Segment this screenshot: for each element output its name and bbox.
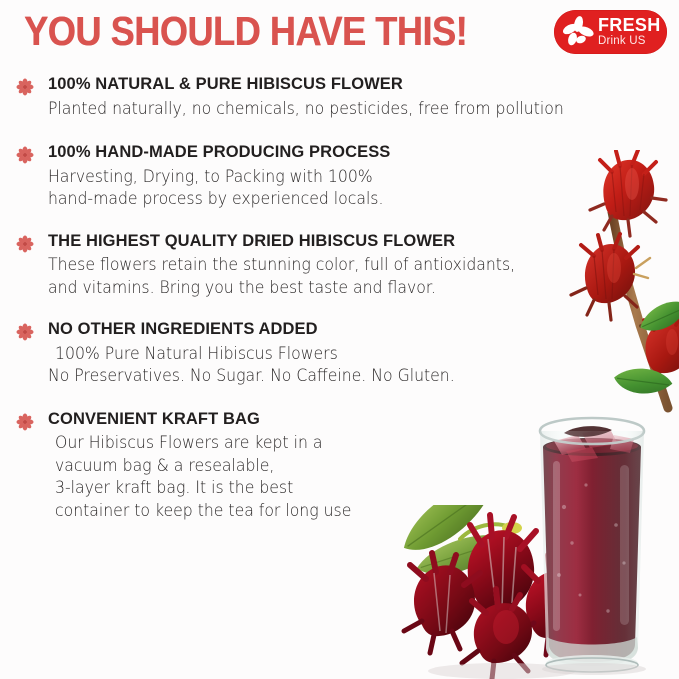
list-item-title: NO OTHER INGREDIENTS ADDED xyxy=(48,319,679,340)
flower-petals-icon xyxy=(557,12,597,52)
list-item-line: No Preservatives. No Sugar. No Caffeine.… xyxy=(48,365,647,387)
header: YOU SHOULD HAVE THIS! FRESH Drink US xyxy=(0,0,679,66)
list-item: THE HIGHEST QUALITY DRIED HIBISCUS FLOWE… xyxy=(0,231,679,300)
list-item-line: hand-made process by experienced locals. xyxy=(48,188,647,210)
flower-asterisk-icon xyxy=(16,78,34,96)
feature-list: 100% NATURAL & PURE HIBISCUS FLOWER Plan… xyxy=(0,66,679,522)
list-item-body: Our Hibiscus Flowers are kept in a vacuu… xyxy=(48,432,679,522)
list-item-line: container to keep the tea for long use xyxy=(55,500,648,522)
flower-asterisk-icon xyxy=(16,413,34,431)
brand-tagline: Drink US xyxy=(598,36,661,48)
list-item-title: 100% HAND-MADE PRODUCING PROCESS xyxy=(48,142,679,163)
list-item-line: 100% Pure Natural Hibiscus Flowers xyxy=(55,343,648,365)
flower-asterisk-icon xyxy=(16,323,34,341)
list-item-line: Harvesting, Drying, to Packing with 100% xyxy=(48,166,647,188)
product-feature-panel: YOU SHOULD HAVE THIS! FRESH Drink US xyxy=(0,0,679,679)
roselle-calyx-bunch-photo xyxy=(390,505,605,679)
list-item-title: 100% NATURAL & PURE HIBISCUS FLOWER xyxy=(48,74,679,95)
list-item-body: Planted naturally, no chemicals, no pest… xyxy=(48,98,679,120)
list-item-line: Planted naturally, no chemicals, no pest… xyxy=(48,98,647,120)
list-item-line: vacuum bag & a resealable, xyxy=(55,455,648,477)
list-item: 100% HAND-MADE PRODUCING PROCESS Harvest… xyxy=(0,142,679,211)
list-item-line: These flowers retain the stunning color,… xyxy=(48,254,647,276)
list-item-line: Our Hibiscus Flowers are kept in a xyxy=(55,432,648,454)
page-title: YOU SHOULD HAVE THIS! xyxy=(24,10,467,53)
list-item-title: THE HIGHEST QUALITY DRIED HIBISCUS FLOWE… xyxy=(48,231,679,252)
list-item-line: and vitamins. Bring you the best taste a… xyxy=(48,277,647,299)
list-item-body: 100% Pure Natural Hibiscus Flowers No Pr… xyxy=(48,343,679,388)
list-item-title: CONVENIENT KRAFT BAG xyxy=(48,409,679,430)
flower-asterisk-icon xyxy=(16,235,34,253)
list-item-body: These flowers retain the stunning color,… xyxy=(48,254,679,299)
list-item-line: 3-layer kraft bag. It is the best xyxy=(55,477,648,499)
list-item: 100% NATURAL & PURE HIBISCUS FLOWER Plan… xyxy=(0,74,679,120)
brand-name: FRESH xyxy=(598,16,661,34)
brand-logo[interactable]: FRESH Drink US xyxy=(554,10,667,54)
list-item-body: Harvesting, Drying, to Packing with 100%… xyxy=(48,166,679,211)
flower-asterisk-icon xyxy=(16,146,34,164)
list-item: NO OTHER INGREDIENTS ADDED 100% Pure Nat… xyxy=(0,319,679,388)
list-item: CONVENIENT KRAFT BAG Our Hibiscus Flower… xyxy=(0,409,679,522)
brand-logo-text: FRESH Drink US xyxy=(598,16,661,48)
